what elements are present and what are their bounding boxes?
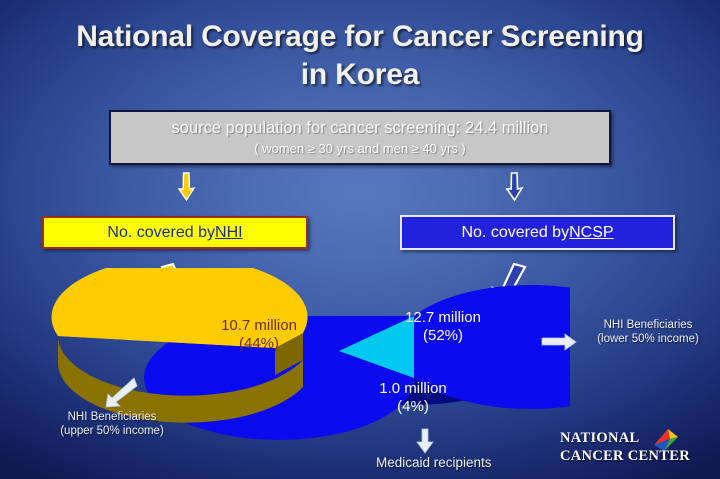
logo-text-line-1: NATIONAL — [560, 430, 690, 448]
logo-text: NATIONAL CANCER CENTER — [560, 430, 690, 465]
callout-nhi-upper-line-2: (upper 50% income) — [22, 424, 202, 438]
logo-text-line-2: CANCER CENTER — [560, 448, 690, 466]
pie-label-medicaid-percent: (4%) — [348, 398, 478, 416]
pie-label-nhi-upper-percent: (44%) — [184, 335, 334, 353]
title-line-1: National Coverage for Cancer Screening — [0, 18, 720, 56]
diagonal-arrow-white-upper-callout — [104, 376, 138, 413]
callout-nhi-upper-line-1: NHI Beneficiaries — [22, 410, 202, 424]
right-arrow-white-lower-callout — [541, 333, 577, 356]
title-line-2: in Korea — [0, 56, 720, 94]
nhi-label-prefix: No. covered by — [107, 224, 215, 242]
callout-nhi-lower-line-2: (lower 50% income) — [578, 332, 718, 346]
down-arrow-yellow-small — [176, 172, 196, 207]
source-population-box: source population for cancer screening: … — [109, 110, 611, 165]
source-population-line-1: source population for cancer screening: … — [172, 119, 549, 138]
national-cancer-center-logo: NATIONAL CANCER CENTER — [560, 429, 708, 469]
ncsp-label-term: NCSP — [569, 224, 613, 242]
nhi-label-box[interactable]: No. covered by NHI — [42, 216, 308, 249]
pie-label-nhi-upper: 10.7 million (44%) — [184, 317, 334, 353]
slide-canvas: National Coverage for Cancer Screening i… — [0, 0, 720, 479]
page-title: National Coverage for Cancer Screening i… — [0, 18, 720, 93]
callout-medicaid: Medicaid recipients — [376, 455, 492, 470]
callout-nhi-lower: NHI Beneficiaries (lower 50% income) — [578, 318, 718, 347]
pie-label-nhi-upper-value: 10.7 million — [184, 317, 334, 335]
down-arrow-white-small — [504, 172, 524, 207]
ncsp-label-prefix: No. covered by — [461, 224, 569, 242]
callout-nhi-upper: NHI Beneficiaries (upper 50% income) — [22, 410, 202, 439]
ncsp-label-box[interactable]: No. covered by NCSP — [400, 215, 675, 250]
callout-nhi-lower-line-1: NHI Beneficiaries — [578, 318, 718, 332]
pie-label-nhi-lower-percent: (52%) — [368, 327, 518, 345]
pie-label-medicaid-value: 1.0 million — [348, 380, 478, 398]
pie-label-nhi-lower: 12.7 million (52%) — [368, 309, 518, 345]
source-population-line-2: ( women ≥ 30 yrs and men ≥ 40 yrs ) — [254, 141, 466, 156]
pie-label-nhi-lower-value: 12.7 million — [368, 309, 518, 327]
pie-label-medicaid: 1.0 million (4%) — [348, 380, 478, 416]
nhi-label-term: NHI — [215, 224, 243, 242]
